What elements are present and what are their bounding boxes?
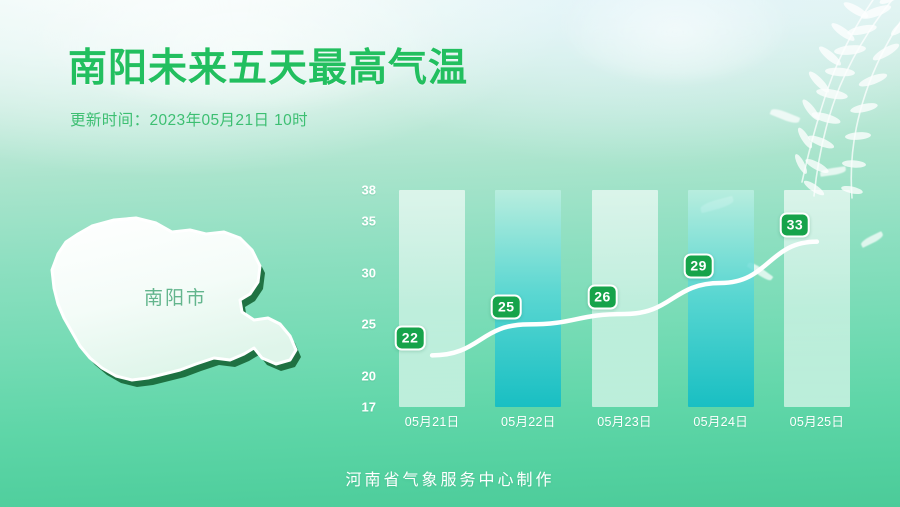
footer-credit: 河南省气象服务中心制作 bbox=[0, 466, 900, 490]
x-axis-label: 05月22日 bbox=[501, 411, 556, 430]
y-axis-tick: 17 bbox=[362, 400, 376, 415]
y-axis-tick: 25 bbox=[362, 317, 376, 332]
y-axis-tick: 38 bbox=[362, 183, 376, 198]
temperature-value-badge: 33 bbox=[780, 212, 811, 237]
page-title: 南阳未来五天最高气温 bbox=[68, 49, 468, 88]
cloud-haze-right bbox=[560, 0, 790, 80]
temperature-value-badge: 29 bbox=[683, 254, 714, 279]
temperature-value-badge: 26 bbox=[587, 285, 618, 310]
x-axis-label: 05月21日 bbox=[405, 411, 460, 430]
temperature-value-badge: 22 bbox=[395, 326, 426, 351]
temperature-value-badge: 25 bbox=[491, 295, 522, 320]
y-axis-tick: 30 bbox=[362, 265, 376, 280]
weather-infographic: 南阳未来五天最高气温 更新时间：2023年05月21日 10时 南阳市 1720… bbox=[0, 0, 900, 507]
x-axis-label: 05月24日 bbox=[693, 411, 748, 430]
x-axis-label: 05月23日 bbox=[597, 411, 652, 430]
temperature-chart: 172025303538 05月21日05月22日05月23日05月24日05月… bbox=[345, 185, 865, 425]
temperature-line bbox=[384, 160, 865, 410]
floating-leaf bbox=[770, 107, 801, 126]
nanyang-map bbox=[44, 208, 344, 413]
x-axis-label: 05月25日 bbox=[790, 411, 845, 430]
y-axis-tick: 35 bbox=[362, 214, 376, 229]
update-time-label: 更新时间：2023年05月21日 10时 bbox=[70, 108, 308, 130]
temperature-line-path bbox=[432, 242, 817, 356]
nanyang-city-map-icon bbox=[44, 208, 344, 413]
map-region-label: 南阳市 bbox=[144, 283, 207, 310]
y-axis-tick: 20 bbox=[362, 369, 376, 384]
